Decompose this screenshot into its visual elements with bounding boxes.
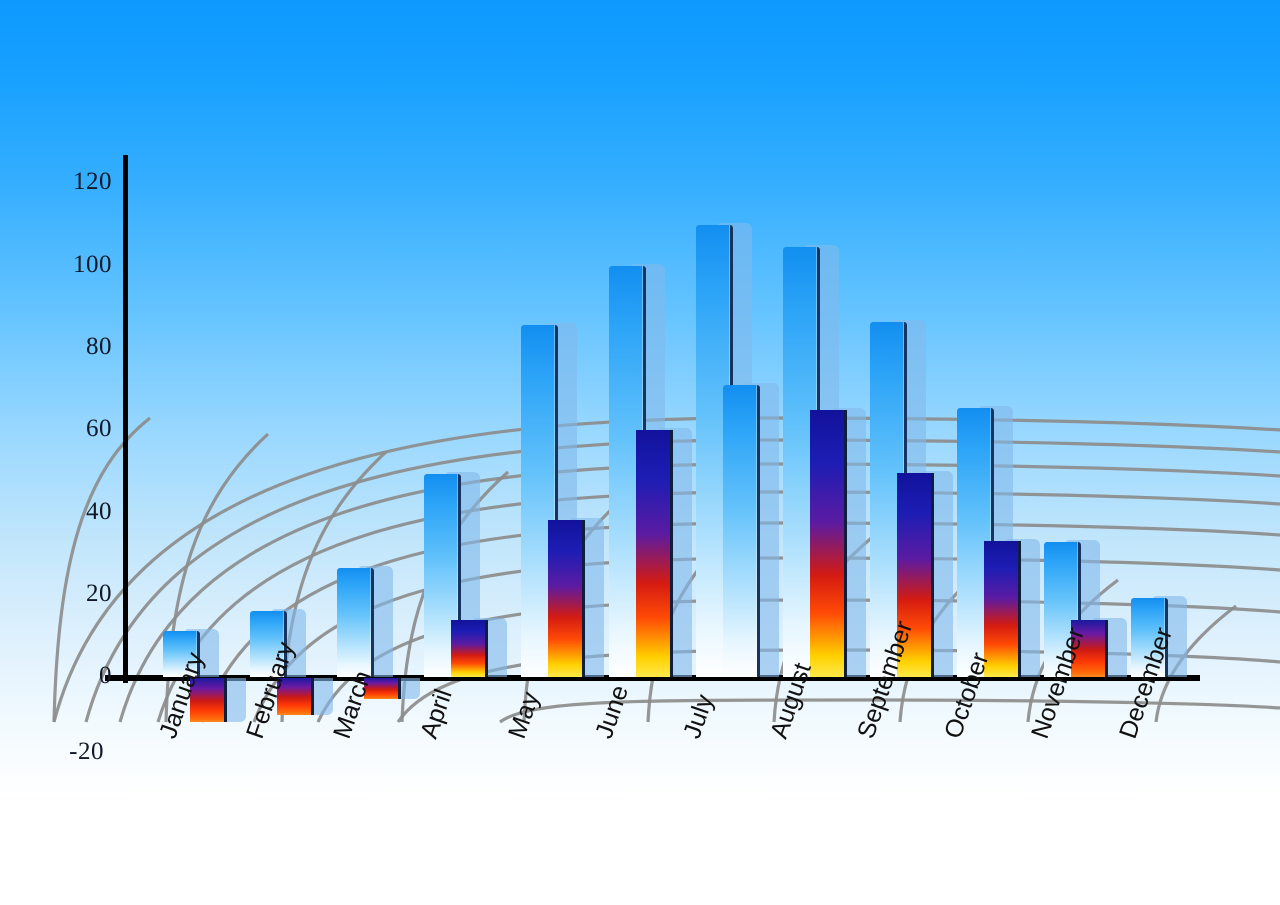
y-tick-0: 0 xyxy=(42,662,112,690)
bar-march-series1[interactable] xyxy=(337,568,374,677)
bar-chart: 120 100 80 60 40 20 0 -20 xyxy=(0,0,1280,905)
bar-july-series2[interactable] xyxy=(723,385,760,677)
plot-area: 120 100 80 60 40 20 0 -20 xyxy=(0,0,1280,905)
y-tick-60: 60 xyxy=(42,415,112,443)
y-tick-80: 80 xyxy=(42,333,112,361)
bar-may-series2[interactable] xyxy=(548,520,585,677)
bar-august-series2[interactable] xyxy=(810,410,847,677)
y-tick-40: 40 xyxy=(42,498,112,526)
x-label-april: April xyxy=(415,686,459,743)
bar-june-series2[interactable] xyxy=(636,430,673,677)
x-label-july: July xyxy=(678,691,720,742)
y-tick-20: 20 xyxy=(42,580,112,608)
y-tick-120: 120 xyxy=(42,168,112,196)
y-axis-line xyxy=(123,155,128,683)
y-tick-neg20: -20 xyxy=(34,738,104,766)
x-label-may: May xyxy=(503,688,546,742)
x-label-june: June xyxy=(590,682,635,743)
bar-april-series2[interactable] xyxy=(451,620,488,677)
y-tick-100: 100 xyxy=(42,251,112,279)
